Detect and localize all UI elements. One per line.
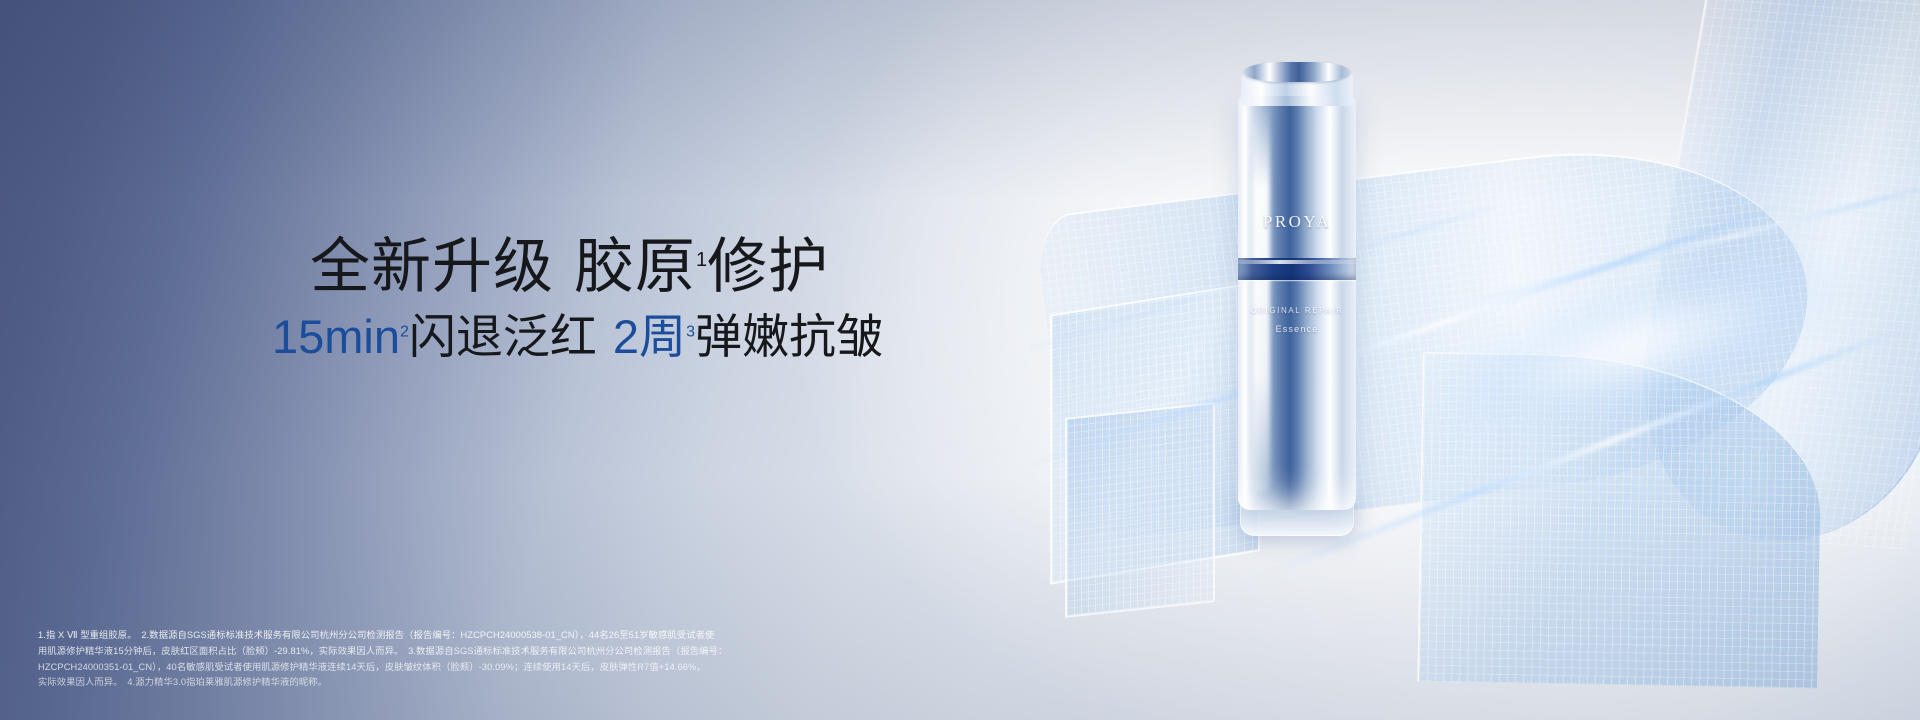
product-line-label: ORIGINAL REPAIR xyxy=(1238,306,1356,315)
headline-footnote-ref-1: 1 xyxy=(696,249,707,271)
footnote-line-3: HZCPCH24000351-01_CN），40名敏感肌受试者使用肌源修护精华液… xyxy=(38,660,1228,676)
subheadline-footnote-ref-2: 2 xyxy=(400,323,409,340)
benefit-text-2: 弹嫩抗皱 xyxy=(695,310,883,363)
light-beam-1 xyxy=(1030,202,1788,474)
glass-panel-lower-left xyxy=(1065,402,1215,618)
light-beam-3 xyxy=(1457,177,1920,307)
glass-panel-front xyxy=(1417,352,1823,689)
brand-logo-text: PROYA xyxy=(1238,212,1356,232)
glass-curve-right xyxy=(1613,0,1920,550)
legal-footnotes: 1.指 X Ⅶ 型重组胶原。 2.数据源自SGS通标标准技术服务有限公司杭州分公… xyxy=(38,628,1228,691)
benefit-metric-2: 2周 xyxy=(613,310,686,363)
subheadline: 15min2闪退泛红2周3弹嫩抗皱 xyxy=(272,313,883,360)
mesh-band-sweep xyxy=(1033,125,1828,545)
banner-stage: PROYA ORIGINAL REPAIR Essence 全新升级胶原1修护 … xyxy=(0,0,1920,720)
benefit-text-1: 闪退泛红 xyxy=(409,310,597,363)
headline-part-2: 胶原 xyxy=(574,233,696,300)
headline-part-3: 修护 xyxy=(707,233,829,300)
bottle-cap xyxy=(1244,62,1350,82)
headline: 全新升级胶原1修护 xyxy=(310,237,829,297)
footnote-line-1: 1.指 X Ⅶ 型重组胶原。 2.数据源自SGS通标标准技术服务有限公司杭州分公… xyxy=(38,628,1228,644)
glass-panel-left xyxy=(1050,281,1260,584)
footnote-line-2: 用肌源修护精华液15分钟后，皮肤红区面积占比（脸颊）-29.81%，实际效果因人… xyxy=(38,644,1228,660)
product-bottle: PROYA ORIGINAL REPAIR Essence xyxy=(1238,62,1356,540)
light-glow xyxy=(1401,212,1879,478)
footnote-line-4: 实际效果因人而异。 4.源力精华3.0指珀莱雅肌源修护精华液的昵称。 xyxy=(38,675,1228,691)
bottle-band-highlight xyxy=(1238,260,1356,264)
product-type-label: Essence xyxy=(1238,324,1356,334)
glass-ribbon-artwork xyxy=(1030,0,1920,720)
subheadline-footnote-ref-3: 3 xyxy=(686,323,695,340)
headline-part-1: 全新升级 xyxy=(310,233,554,300)
benefit-metric-1: 15min xyxy=(272,310,400,363)
bottle-highlight xyxy=(1252,102,1270,492)
